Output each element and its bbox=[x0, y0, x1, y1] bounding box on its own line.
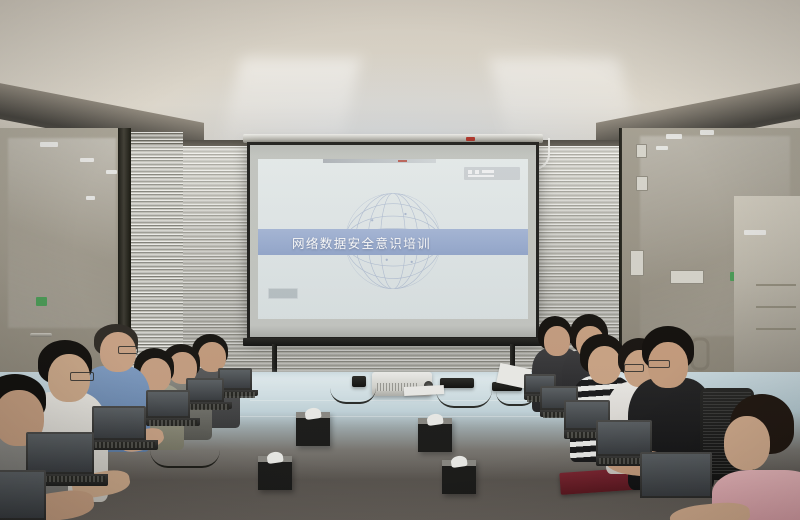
slide-logo-placeholder bbox=[464, 167, 520, 180]
slide-title-text: 网络数据安全意识培训 bbox=[258, 233, 431, 252]
head bbox=[724, 416, 770, 470]
eyeglasses bbox=[648, 360, 670, 368]
head bbox=[588, 346, 621, 384]
cable-3 bbox=[150, 450, 220, 468]
ceiling-light-reflection-4 bbox=[86, 196, 95, 200]
shelf-line-1 bbox=[756, 284, 796, 286]
glass-reflection-left bbox=[8, 138, 116, 328]
office-ceiling-light bbox=[744, 230, 766, 235]
laptop-screen bbox=[148, 392, 188, 416]
laptop-lid bbox=[92, 406, 146, 440]
laptop-base bbox=[218, 390, 258, 396]
laptop-base bbox=[186, 402, 232, 409]
blinds-left-panel bbox=[131, 132, 183, 376]
tissue-sheet bbox=[266, 451, 283, 464]
tissue-sheet bbox=[304, 407, 321, 420]
glass-door-handle bbox=[30, 333, 52, 337]
light-switch-bank[interactable] bbox=[670, 270, 704, 284]
eyeglasses bbox=[624, 364, 644, 372]
slide-footer-placeholder bbox=[268, 288, 298, 299]
shelf-line-2 bbox=[756, 306, 796, 308]
presentation-slide: 网络数据安全意识培训 bbox=[258, 159, 528, 319]
laptop-lid bbox=[26, 432, 94, 474]
slide-title-band: 网络数据安全意识培训 bbox=[258, 229, 528, 255]
power-hub-center bbox=[440, 378, 474, 388]
projection-screen-weight-bar bbox=[243, 338, 543, 346]
conference-room-photo: 2030 bbox=[0, 0, 800, 520]
office-area-beyond bbox=[734, 196, 800, 378]
laptop-keyboard[interactable] bbox=[95, 442, 155, 448]
wall-plate-right-2 bbox=[636, 176, 648, 191]
slide-top-indicator bbox=[398, 160, 407, 162]
tissue-box-1 bbox=[296, 412, 330, 446]
laptop-keyboard[interactable] bbox=[149, 420, 197, 426]
cable-box-left bbox=[352, 376, 366, 387]
laptop-screen bbox=[188, 380, 222, 400]
laptop-lid bbox=[596, 420, 652, 456]
laptop-screen bbox=[94, 408, 144, 438]
ceiling-light-reflection-5 bbox=[666, 134, 682, 139]
ceiling-light-reflection-6 bbox=[700, 130, 714, 135]
tissue-sheet bbox=[426, 413, 443, 426]
laptop-keyboard[interactable] bbox=[221, 392, 255, 398]
eyeglasses bbox=[70, 372, 94, 381]
tissue-box-3 bbox=[258, 456, 292, 490]
tissue-box-2 bbox=[418, 418, 452, 452]
projection-screen-surface: 网络数据安全意识培训 bbox=[250, 145, 536, 337]
head bbox=[544, 326, 570, 356]
ceiling-light-reflection-2 bbox=[80, 158, 94, 162]
green-exit-sticker bbox=[36, 297, 47, 306]
laptop-screen bbox=[642, 454, 710, 496]
ceiling-light-reflection-1 bbox=[40, 142, 58, 147]
tissue-box-4 bbox=[442, 460, 476, 494]
laptop-screen bbox=[598, 422, 650, 454]
laptop-base bbox=[92, 440, 158, 450]
ceiling-light-reflection-3 bbox=[106, 170, 117, 174]
shelf-line-3 bbox=[756, 328, 796, 330]
card-reader[interactable] bbox=[630, 250, 644, 276]
laptop-screen bbox=[220, 370, 250, 388]
ceiling-light-reflection-7 bbox=[656, 146, 668, 150]
eyeglasses bbox=[118, 346, 138, 354]
wall-plate-right-1 bbox=[636, 144, 647, 158]
laptop-screen bbox=[28, 434, 92, 472]
projection-screen: 网络数据安全意识培训 bbox=[247, 142, 539, 340]
slide-top-bar bbox=[323, 159, 436, 163]
tissue-sheet bbox=[450, 455, 467, 468]
laptop-lid bbox=[186, 378, 224, 402]
laptop-base bbox=[146, 418, 200, 426]
laptop-lid bbox=[146, 390, 190, 418]
laptop-keyboard[interactable] bbox=[189, 404, 229, 410]
laptop-lid bbox=[640, 452, 712, 498]
laptop-lid bbox=[0, 470, 46, 520]
laptop-screen bbox=[0, 472, 44, 518]
